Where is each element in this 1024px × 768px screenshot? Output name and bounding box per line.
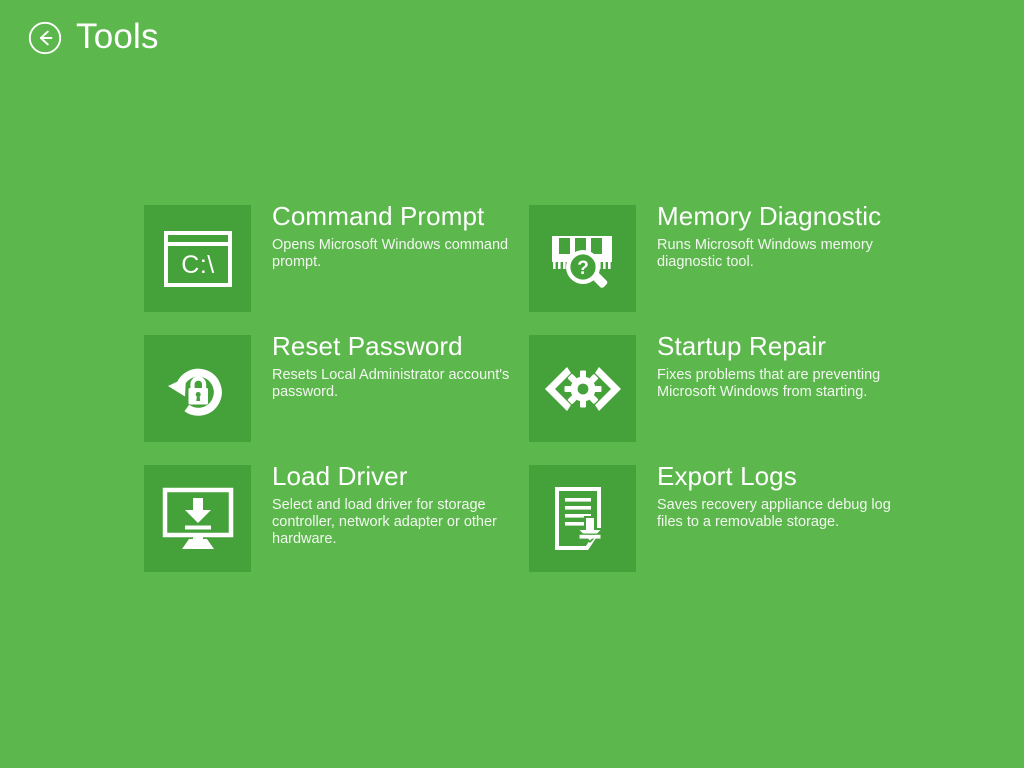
tool-description: Runs Microsoft Windows memory diagnostic…: [657, 237, 907, 271]
back-arrow-circle-icon[interactable]: [28, 21, 62, 55]
tool-title: Startup Repair: [657, 331, 907, 361]
tool-description: Fixes problems that are preventing Micro…: [657, 367, 907, 401]
tool-description: Saves recovery appliance debug log files…: [657, 497, 907, 531]
tool-tile-startup-repair[interactable]: Startup Repair Fixes problems that are p…: [529, 335, 914, 465]
tool-tile-command-prompt[interactable]: C:\ Command Prompt Opens Microsoft Windo…: [144, 205, 529, 335]
tool-title: Reset Password: [272, 331, 522, 361]
tool-description: Resets Local Administrator account's pas…: [272, 367, 522, 401]
reset-arrow-padlock-icon[interactable]: [144, 335, 251, 442]
monitor-download-icon[interactable]: [144, 465, 251, 572]
tool-title: Command Prompt: [272, 201, 522, 231]
tool-title: Memory Diagnostic: [657, 201, 907, 231]
tool-tile-memory-diagnostic[interactable]: ? Memory Diagnostic Runs Microsoft Windo…: [529, 205, 914, 335]
tools-grid: C:\ Command Prompt Opens Microsoft Windo…: [144, 205, 934, 595]
tool-tile-reset-password[interactable]: Reset Password Resets Local Administrato…: [144, 335, 529, 465]
tool-tile-load-driver[interactable]: Load Driver Select and load driver for s…: [144, 465, 529, 595]
page-header: Tools: [28, 20, 159, 55]
tool-description: Select and load driver for storage contr…: [272, 497, 522, 548]
svg-text:?: ?: [577, 258, 589, 279]
tool-title: Load Driver: [272, 461, 522, 491]
angle-brackets-gear-icon[interactable]: [529, 335, 636, 442]
tool-tile-export-logs[interactable]: Export Logs Saves recovery appliance deb…: [529, 465, 914, 595]
page-title: Tools: [76, 19, 159, 54]
tool-title: Export Logs: [657, 461, 907, 491]
document-download-icon[interactable]: [529, 465, 636, 572]
memory-module-magnifier-question-icon[interactable]: ?: [529, 205, 636, 312]
svg-text:C:\: C:\: [181, 251, 214, 279]
terminal-window-icon[interactable]: C:\: [144, 205, 251, 312]
tool-description: Opens Microsoft Windows command prompt.: [272, 237, 522, 271]
